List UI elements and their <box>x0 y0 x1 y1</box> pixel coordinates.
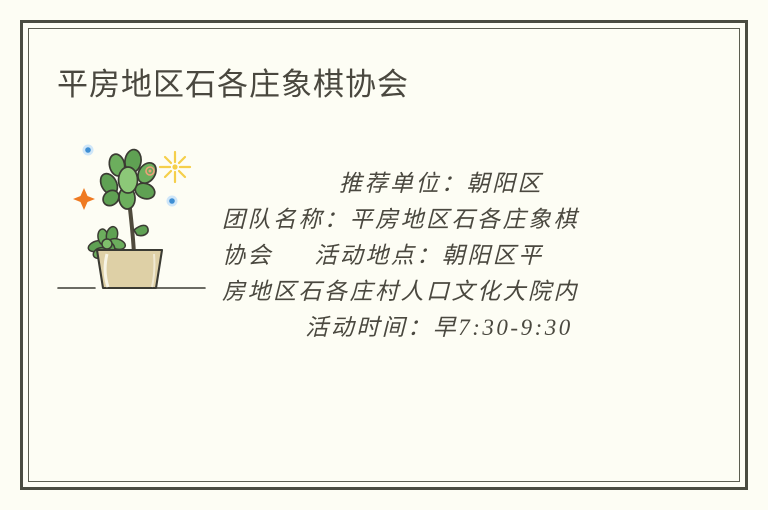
detail-line-team-name: 团队名称：平房地区石各庄象棋 <box>222 202 652 238</box>
details-block: 推荐单位：朝阳区 团队名称：平房地区石各庄象棋 协会 活动地点：朝阳区平 房地区… <box>222 166 652 346</box>
sparkle-yellow <box>160 152 190 182</box>
detail-line-activity-time: 活动时间：早7:30-9:30 <box>222 310 652 346</box>
detail-line-location-end: 房地区石各庄村人口文化大院内 <box>222 274 652 310</box>
detail-line-recommending-unit: 推荐单位：朝阳区 <box>222 166 652 202</box>
info-card: 平房地区石各庄象棋协会 <box>0 0 768 510</box>
sparkle-blue-2 <box>167 196 178 207</box>
sparkle-blue-1 <box>83 145 94 156</box>
potted-plant-illustration <box>55 138 215 306</box>
page-title: 平房地区石各庄象棋协会 <box>57 64 409 106</box>
sparkle-orange <box>73 188 95 210</box>
detail-line-location-start: 协会 活动地点：朝阳区平 <box>222 238 652 274</box>
